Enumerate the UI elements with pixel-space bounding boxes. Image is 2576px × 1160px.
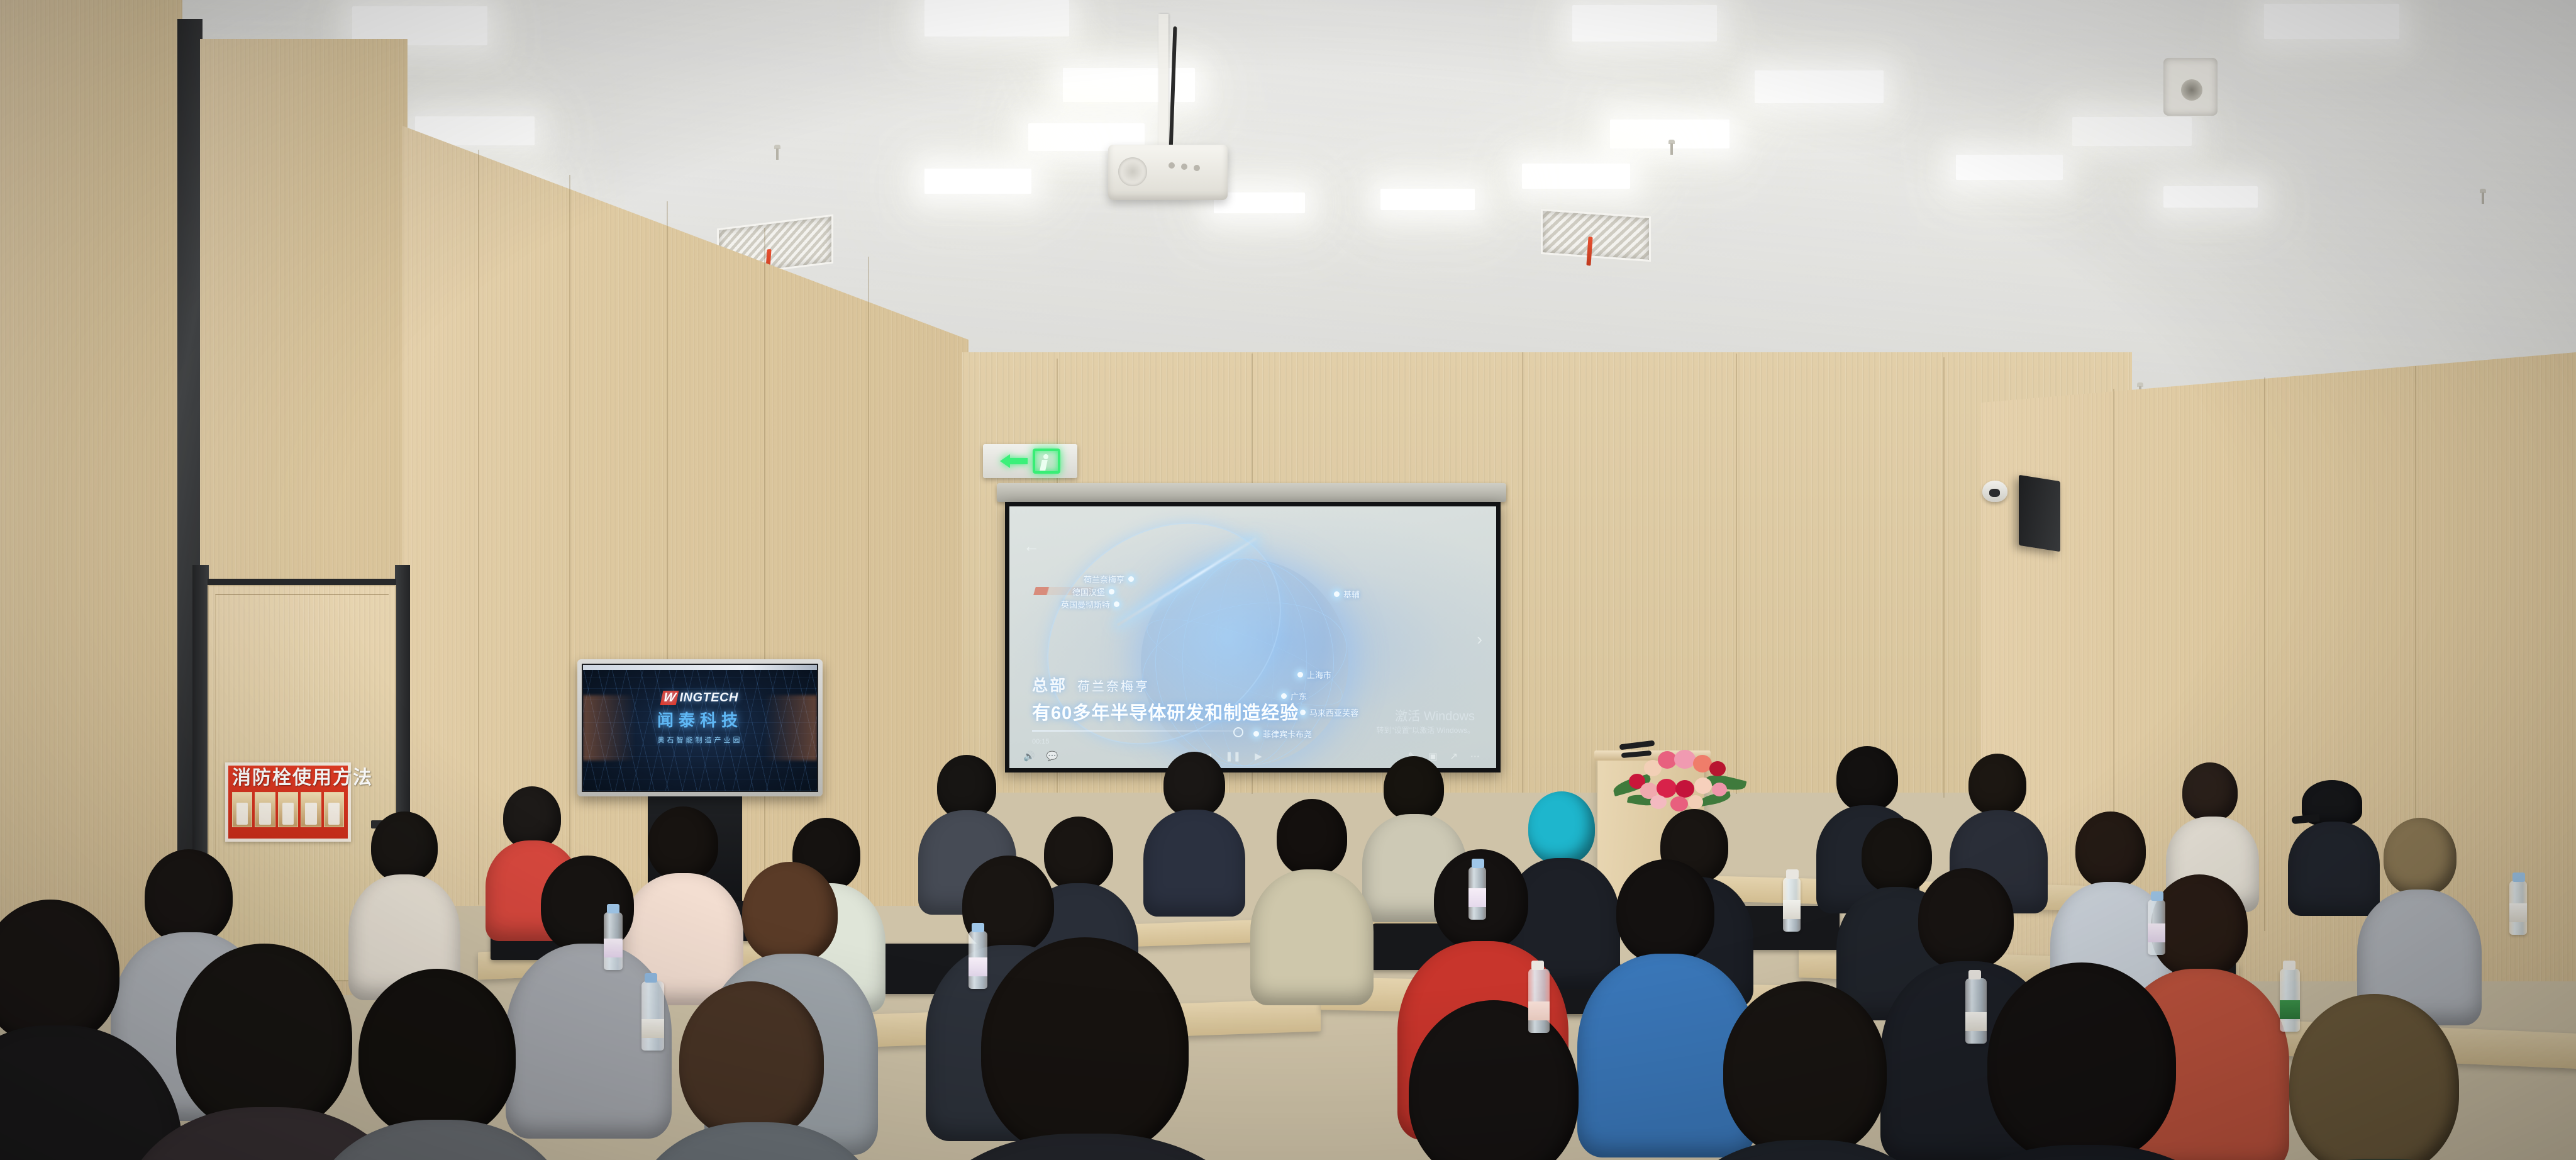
head xyxy=(1836,746,1898,811)
brand-en-row: WINGTECH xyxy=(657,691,743,705)
city-dot xyxy=(1128,576,1134,582)
head xyxy=(1862,818,1932,893)
flower xyxy=(1688,795,1703,809)
emergency-exit-sign xyxy=(983,444,1077,478)
head xyxy=(371,811,438,882)
flower xyxy=(1650,795,1667,809)
water-bottle xyxy=(2280,969,2300,1032)
head xyxy=(2151,874,2248,978)
city-name: 德国汉堡 xyxy=(1072,586,1105,598)
screen-top-bar xyxy=(583,665,817,670)
led-ceiling-panel xyxy=(1572,5,1717,42)
bottle-label xyxy=(641,1019,664,1038)
city-name: 英国曼彻斯特 xyxy=(1061,598,1110,610)
slide-progress-bar xyxy=(1032,730,1240,732)
baseball-cap xyxy=(2302,780,2362,825)
windows-activation-watermark: 激活 Windows 转到"设置"以激活 Windows。 xyxy=(1376,708,1475,735)
bottle-cap xyxy=(2151,891,2163,901)
projection-screen[interactable]: ← › 荷兰奈梅亨 德国汉堡 英国曼彻斯特 xyxy=(1005,502,1501,772)
exit-arrow-left-icon xyxy=(1000,453,1029,469)
flower xyxy=(1709,761,1726,776)
projector-knob xyxy=(1169,162,1175,169)
torso xyxy=(2288,822,2380,916)
city-dot xyxy=(1253,731,1259,737)
bottle-cap xyxy=(607,904,619,913)
hvac-diffuser xyxy=(1541,209,1651,262)
wall-speaker xyxy=(2019,475,2060,552)
head xyxy=(648,806,718,881)
head xyxy=(1968,754,2026,815)
conference-room-photo: 消防栓使用方法 ← › xyxy=(0,0,2576,1160)
city-dot xyxy=(1334,591,1340,597)
water-bottle xyxy=(641,981,664,1051)
wall-seam xyxy=(1522,352,1523,793)
head xyxy=(1616,859,1714,964)
lcd-display[interactable]: WINGTECH 闻泰科技 黄石智能制造产业园 xyxy=(577,659,823,796)
projector-mount-rod xyxy=(1158,14,1169,150)
screen-glow-right xyxy=(764,695,817,761)
fire-hydrant-usage-sign: 消防栓使用方法 xyxy=(225,762,351,842)
led-ceiling-panel xyxy=(2072,117,2192,146)
head xyxy=(1918,868,2014,970)
projector-knob xyxy=(1194,165,1200,171)
bottle-cap xyxy=(1472,859,1484,868)
slide-next-arrow-icon[interactable]: › xyxy=(1477,630,1482,649)
head xyxy=(358,969,516,1139)
slide-caption-label: 总部 xyxy=(1032,677,1067,694)
ceiling-projector xyxy=(1108,145,1228,200)
fire-sign-step xyxy=(278,792,298,827)
head xyxy=(937,755,996,819)
brand-mark: W xyxy=(660,691,679,705)
pause-icon[interactable]: ❚❚ xyxy=(1225,750,1241,762)
globe-city-label: 上海市 xyxy=(1297,669,1331,681)
head xyxy=(1163,752,1225,817)
head xyxy=(2384,818,2457,896)
globe-city-label: 基辅 xyxy=(1334,588,1360,600)
bottle-cap xyxy=(2283,961,2296,970)
slide-caption-line1: 总部荷兰奈梅亨 xyxy=(1032,673,1302,696)
fire-sign-step xyxy=(255,792,275,827)
head xyxy=(1277,799,1347,876)
flower xyxy=(1694,778,1712,794)
wall-seam xyxy=(1943,357,1945,798)
brand-cn: 闻泰科技 xyxy=(657,708,743,731)
bottle-label xyxy=(604,939,623,957)
fire-sign-step xyxy=(232,792,252,827)
flower xyxy=(1670,796,1688,811)
bottle-label xyxy=(969,957,987,976)
slide-back-arrow-icon[interactable]: ← xyxy=(1023,537,1040,556)
head xyxy=(145,849,233,944)
flower xyxy=(1674,750,1696,769)
water-bottle xyxy=(1528,969,1550,1033)
head xyxy=(981,937,1189,1157)
head xyxy=(1528,791,1595,864)
fire-sign-title: 消防栓使用方法 xyxy=(232,769,344,788)
wall-left xyxy=(0,0,182,981)
brand-subtitle: 黄石智能制造产业园 xyxy=(657,735,743,745)
projector-lens xyxy=(1118,157,1147,186)
bottle-cap xyxy=(2512,873,2525,882)
flower-arrangement xyxy=(1611,746,1743,817)
slide-caption: 总部荷兰奈梅亨 有60多年半导体研发和制造经验 xyxy=(1032,673,1302,732)
city-name: 荷兰奈梅亨 xyxy=(1084,573,1124,585)
led-ceiling-panel xyxy=(924,0,1069,36)
bottle-label xyxy=(2148,923,2165,942)
slide-caption-line2: 有60多年半导体研发和制造经验 xyxy=(1032,698,1302,725)
bottle-cap xyxy=(972,923,984,932)
head xyxy=(1987,962,2176,1160)
bottle-label xyxy=(1965,1012,1987,1031)
fire-sign-step xyxy=(324,792,344,827)
lcd-screen: WINGTECH 闻泰科技 黄石智能制造产业园 xyxy=(582,664,818,792)
bottle-label xyxy=(1528,1001,1550,1020)
watermark-line2: 转到"设置"以激活 Windows。 xyxy=(1376,725,1475,735)
bottle-label xyxy=(2509,903,2527,922)
city-name: 基辅 xyxy=(1343,588,1360,600)
next-icon[interactable]: ▶ xyxy=(1255,750,1262,762)
projector-knob xyxy=(1181,164,1187,170)
watermark-line1: 激活 Windows xyxy=(1376,708,1475,725)
comment-icon[interactable]: 💬 xyxy=(1046,750,1058,762)
water-bottle xyxy=(2509,881,2527,935)
globe-city-label: 荷兰奈梅亨 xyxy=(1084,573,1134,585)
led-ceiling-panel xyxy=(1956,155,2063,180)
fire-sprinkler xyxy=(1667,140,1677,156)
head xyxy=(1384,756,1444,820)
globe-city-label: 马来西亚芙蓉 xyxy=(1300,706,1358,718)
head xyxy=(679,981,824,1139)
head xyxy=(1723,981,1887,1157)
slide-caption-location: 荷兰奈梅亨 xyxy=(1077,680,1150,694)
head xyxy=(503,786,561,849)
water-bottle xyxy=(2148,900,2165,955)
head xyxy=(2075,811,2146,888)
city-dot xyxy=(1114,601,1119,607)
screen-glow-left xyxy=(583,695,636,761)
water-bottle xyxy=(604,912,623,970)
more-icon[interactable]: ⋯ xyxy=(1470,750,1480,762)
wall-seam xyxy=(569,175,570,905)
wall-seam xyxy=(764,228,765,907)
led-ceiling-panel xyxy=(2264,4,2399,39)
bottle-cap xyxy=(1531,961,1544,970)
flower xyxy=(1712,783,1727,796)
led-ceiling-panel xyxy=(2163,186,2258,208)
wall-seam xyxy=(868,257,869,911)
bottle-cap xyxy=(645,973,657,983)
dome-security-camera xyxy=(1982,481,2007,502)
city-name: 马来西亚芙蓉 xyxy=(1309,706,1358,718)
globe-city-label: 英国曼彻斯特 xyxy=(1061,598,1119,610)
water-bottle xyxy=(1965,978,1987,1044)
fire-sign-illustrations xyxy=(232,792,344,827)
head xyxy=(2182,762,2238,822)
bottle-label xyxy=(1783,900,1801,919)
bottle-cap xyxy=(1968,970,1981,979)
head xyxy=(1044,817,1113,891)
bottle-cap xyxy=(1786,869,1799,879)
slide-timecode: 00:15 xyxy=(1032,738,1050,745)
water-bottle xyxy=(1783,878,1801,932)
wall-seam xyxy=(1736,354,1737,794)
ceiling-speaker xyxy=(2163,58,2218,116)
bottle-label xyxy=(1468,888,1486,907)
fire-sign-step xyxy=(301,792,321,827)
volume-icon[interactable]: 🔊 xyxy=(1023,750,1035,762)
water-bottle xyxy=(969,931,987,989)
wall-seam xyxy=(478,150,479,905)
flower xyxy=(1675,780,1694,798)
led-ceiling-panel xyxy=(924,169,1031,194)
projection-screen-housing xyxy=(997,483,1506,502)
running-man-icon xyxy=(1033,449,1060,474)
head xyxy=(176,944,352,1132)
wall-seam xyxy=(2264,377,2265,931)
wingtech-branding: WINGTECH 闻泰科技 黄石智能制造产业园 xyxy=(657,691,743,745)
led-ceiling-panel xyxy=(1380,189,1475,210)
torso xyxy=(1143,810,1245,917)
led-ceiling-panel xyxy=(1755,70,1884,103)
presentation-slide: ← › 荷兰奈梅亨 德国汉堡 英国曼彻斯特 xyxy=(1009,506,1496,768)
city-dot xyxy=(1109,589,1114,594)
bottle-label xyxy=(2280,1000,2300,1019)
slides-icon[interactable]: ▣ xyxy=(1428,750,1437,762)
fire-sprinkler xyxy=(2478,189,2488,205)
globe-city-label: 德国汉堡 xyxy=(1072,586,1114,598)
led-ceiling-panel xyxy=(1522,164,1630,189)
water-bottle xyxy=(1468,867,1486,920)
torso xyxy=(1250,869,1374,1005)
city-name: 上海市 xyxy=(1307,669,1331,681)
brand-en: INGTECH xyxy=(679,691,738,705)
head xyxy=(742,862,838,964)
fire-sprinkler xyxy=(772,145,782,161)
toolbar-left-group[interactable]: 🔊 💬 xyxy=(1023,750,1058,762)
expand-icon[interactable]: ↗ xyxy=(1450,750,1458,762)
